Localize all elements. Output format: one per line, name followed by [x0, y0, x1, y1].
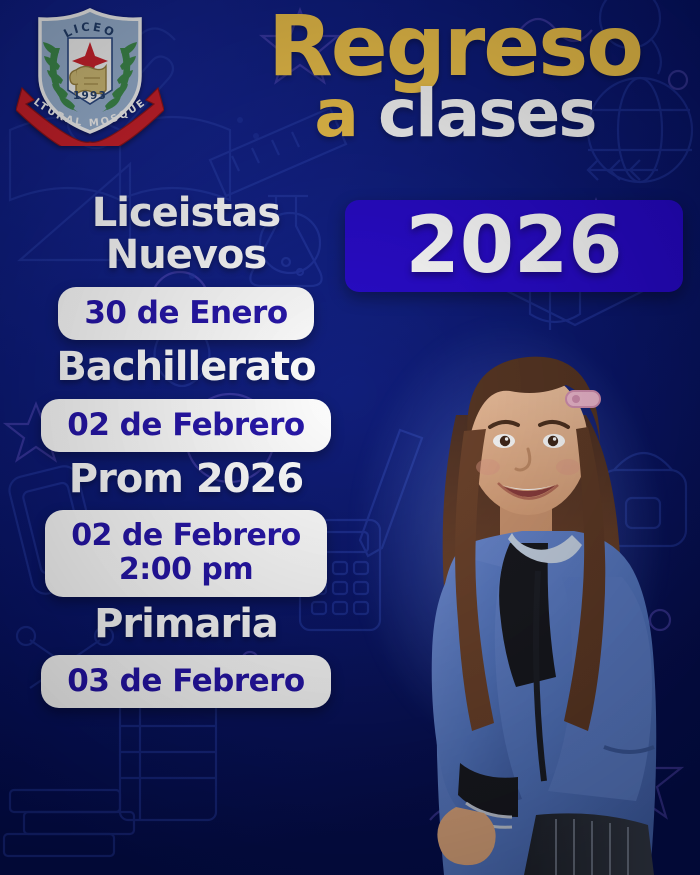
back-to-school-poster: LICEO 1993 CULTURAL MOSQUERA Regreso a c… — [0, 0, 700, 875]
poster-vignette — [0, 0, 700, 875]
